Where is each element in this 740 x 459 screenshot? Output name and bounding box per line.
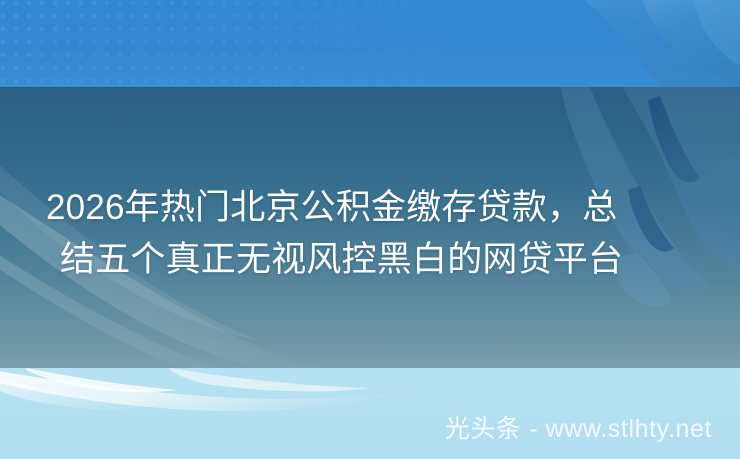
background-band-top xyxy=(0,0,740,87)
title-line-1: 2026年热门北京公积金缴存贷款，总 xyxy=(46,182,706,234)
dot-grid-texture xyxy=(0,0,560,87)
cover-image: 2026年热门北京公积金缴存贷款，总 结五个真正无视风控黑白的网贷平台 光头条 … xyxy=(0,0,740,459)
site-watermark: 光头条 - www.stlhty.net xyxy=(445,413,712,445)
title-line-2: 结五个真正无视风控黑白的网贷平台 xyxy=(46,234,706,286)
cover-title: 2026年热门北京公积金缴存贷款，总 结五个真正无视风控黑白的网贷平台 xyxy=(46,182,706,286)
